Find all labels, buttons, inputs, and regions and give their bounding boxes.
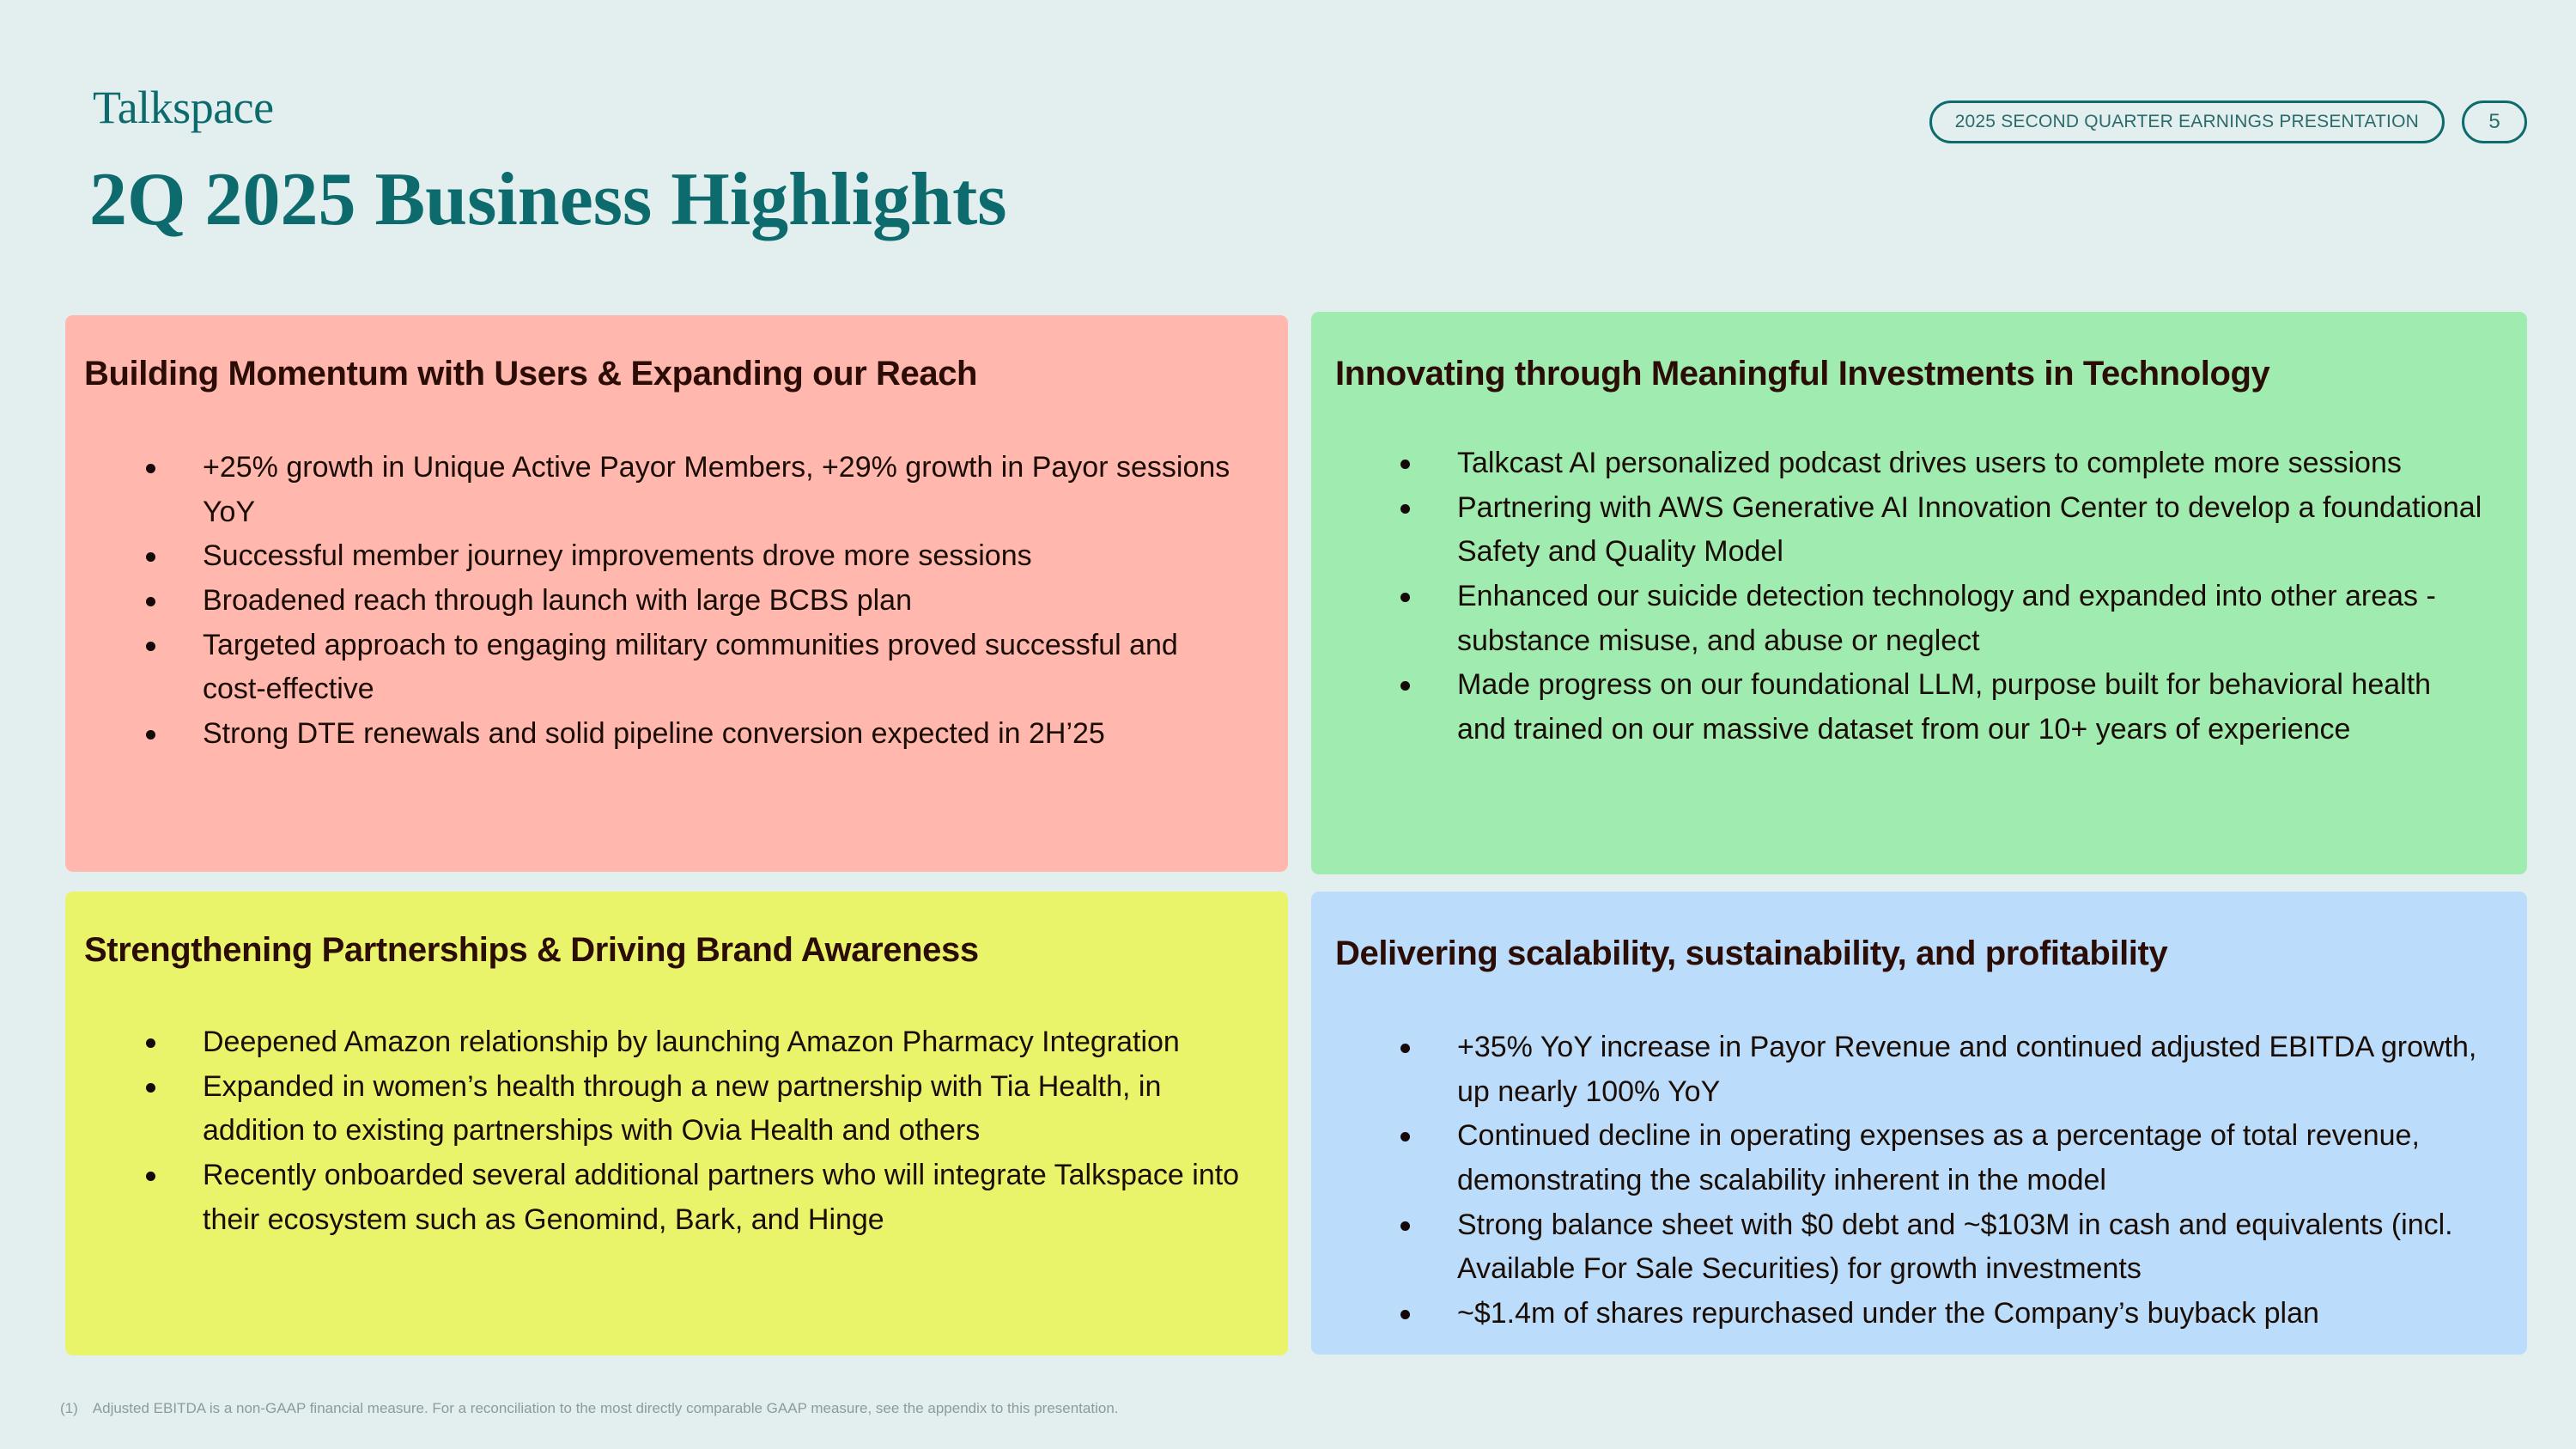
header-badges: 2025 SECOND QUARTER EARNINGS PRESENTATIO…	[1929, 100, 2527, 143]
page-number-badge: 5	[2462, 100, 2527, 143]
highlight-card-partnerships-brand: Strengthening Partnerships & Driving Bra…	[65, 892, 1288, 1355]
highlight-card-users-reach: Building Momentum with Users & Expanding…	[65, 315, 1288, 872]
list-item: +35% YoY increase in Payor Revenue and c…	[1392, 1026, 2478, 1114]
list-item: +25% growth in Unique Active Payor Membe…	[137, 446, 1241, 534]
card-heading: Building Momentum with Users & Expanding…	[65, 315, 1288, 393]
list-item: Partnering with AWS Generative AI Innova…	[1392, 486, 2482, 575]
footnote-marker: (1)	[60, 1400, 78, 1417]
list-item: Enhanced our suicide detection technolog…	[1392, 575, 2482, 663]
list-item: Targeted approach to engaging military c…	[137, 624, 1241, 712]
footnote-text: Adjusted EBITDA is a non-GAAP financial …	[93, 1400, 1119, 1417]
list-item: Recently onboarded several additional pa…	[137, 1154, 1245, 1242]
deck-title-badge: 2025 SECOND QUARTER EARNINGS PRESENTATIO…	[1929, 100, 2445, 143]
list-item: Talkcast AI personalized podcast drives …	[1392, 441, 2482, 486]
footnote: (1) Adjusted EBITDA is a non-GAAP financ…	[60, 1400, 1119, 1417]
list-item: Strong DTE renewals and solid pipeline c…	[137, 712, 1241, 757]
list-item: Deepened Amazon relationship by launchin…	[137, 1020, 1245, 1065]
list-item: Strong balance sheet with $0 debt and ~$…	[1392, 1203, 2478, 1292]
card-heading: Innovating through Meaningful Investment…	[1311, 312, 2527, 393]
card-bullet-list: +35% YoY increase in Payor Revenue and c…	[1392, 1026, 2478, 1336]
highlight-card-technology: Innovating through Meaningful Investment…	[1311, 312, 2527, 874]
talkspace-logo: Talkspace	[93, 84, 274, 131]
page-title: 2Q 2025 Business Highlights	[89, 159, 1007, 240]
list-item: ~$1.4m of shares repurchased under the C…	[1392, 1292, 2478, 1336]
list-item: Successful member journey improvements d…	[137, 534, 1241, 579]
slide: Talkspace 2025 SECOND QUARTER EARNINGS P…	[0, 0, 2576, 1449]
list-item: Made progress on our foundational LLM, p…	[1392, 663, 2482, 752]
card-heading: Strengthening Partnerships & Driving Bra…	[65, 892, 1288, 970]
card-bullet-list: Deepened Amazon relationship by launchin…	[137, 1020, 1245, 1242]
list-item: Continued decline in operating expenses …	[1392, 1114, 2478, 1202]
card-bullet-list: +25% growth in Unique Active Payor Membe…	[137, 446, 1241, 757]
card-heading: Delivering scalability, sustainability, …	[1311, 892, 2527, 973]
list-item: Expanded in women’s health through a new…	[137, 1065, 1245, 1154]
list-item: Broadened reach through launch with larg…	[137, 579, 1241, 624]
highlight-card-scalability-profitability: Delivering scalability, sustainability, …	[1311, 892, 2527, 1355]
card-bullet-list: Talkcast AI personalized podcast drives …	[1392, 441, 2482, 752]
